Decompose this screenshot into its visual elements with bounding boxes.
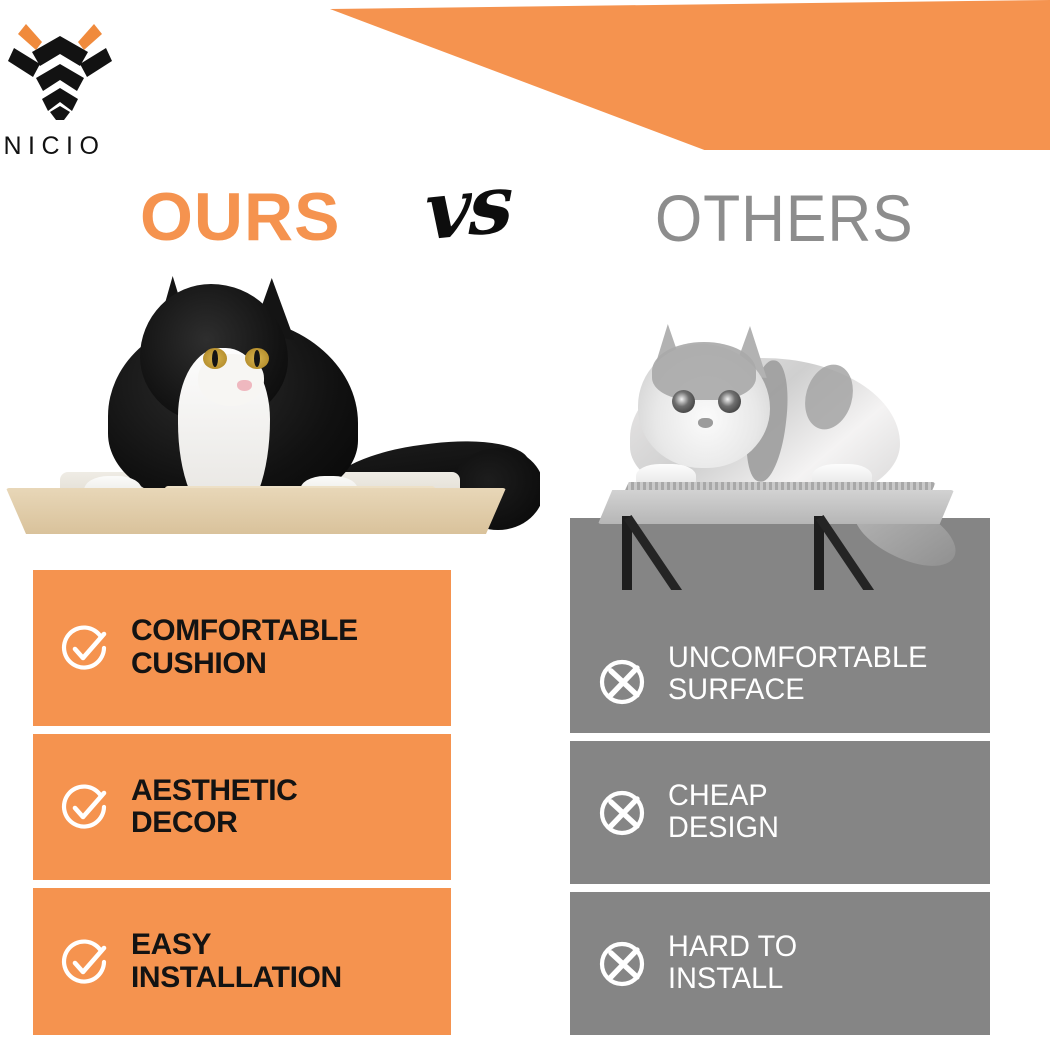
cat-pupil-right bbox=[254, 350, 260, 367]
feature-row-others-2: CHEAP DESIGN bbox=[570, 741, 990, 884]
feature-label: CHEAP DESIGN bbox=[668, 780, 779, 845]
feature-label: EASY INSTALLATION bbox=[131, 929, 342, 994]
check-circle-icon bbox=[59, 936, 111, 988]
bee-hex-logo-icon bbox=[0, 14, 120, 122]
x-circle-icon bbox=[596, 937, 648, 989]
feature-row-ours-2: AESTHETIC DECOR bbox=[33, 734, 451, 881]
check-circle-icon bbox=[59, 622, 111, 674]
feature-row-ours-3: EASY INSTALLATION bbox=[33, 888, 451, 1035]
headline-others: OTHERS bbox=[655, 180, 914, 256]
infographic-canvas: INICIO OURS vs OTHERS bbox=[0, 0, 1050, 1040]
product-image-ours bbox=[0, 276, 540, 576]
headline-ours: OURS bbox=[140, 178, 340, 256]
competitor-shelf-board bbox=[598, 490, 954, 524]
diagonal-corner-banner bbox=[330, 0, 1050, 150]
feature-row-others-3: HARD TO INSTALL bbox=[570, 892, 990, 1035]
competitor-cat-head-marking bbox=[652, 342, 756, 400]
shelf-wood-base bbox=[6, 488, 506, 534]
feature-label: HARD TO INSTALL bbox=[668, 931, 797, 996]
headline-row: OURS vs OTHERS bbox=[0, 168, 1050, 268]
brand-wordmark: INICIO bbox=[0, 132, 105, 161]
cat-nose bbox=[237, 380, 252, 391]
competitor-cat-eye-right bbox=[718, 390, 741, 413]
feature-label: UNCOMFORTABLE SURFACE bbox=[668, 642, 927, 707]
feature-column-ours: COMFORTABLE CUSHION AESTHETIC DECOR EASY… bbox=[33, 570, 451, 1035]
competitor-shelf-bracket-left bbox=[622, 516, 632, 590]
cat-pupil-left bbox=[212, 350, 218, 367]
product-image-others bbox=[560, 300, 1010, 590]
competitor-shelf-bracket-right bbox=[814, 516, 824, 590]
brand-logo: INICIO bbox=[0, 14, 136, 164]
headline-vs: vs bbox=[425, 155, 510, 258]
feature-row-ours-1: COMFORTABLE CUSHION bbox=[33, 570, 451, 726]
feature-column-others: UNCOMFORTABLE SURFACE CHEAP DESIGN HARD … bbox=[570, 518, 990, 1035]
x-circle-icon bbox=[596, 655, 648, 707]
feature-label: AESTHETIC DECOR bbox=[131, 775, 297, 840]
competitor-cat-eye-left bbox=[672, 390, 695, 413]
check-circle-icon bbox=[59, 781, 111, 833]
competitor-cat-nose bbox=[698, 418, 713, 428]
x-circle-icon bbox=[596, 786, 648, 838]
feature-label: COMFORTABLE CUSHION bbox=[131, 615, 358, 680]
